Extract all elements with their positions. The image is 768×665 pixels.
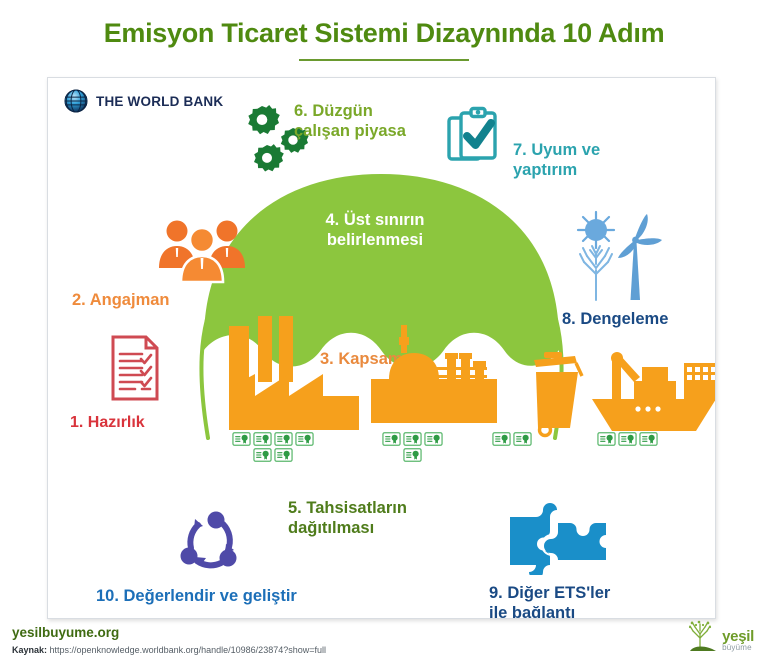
checklist-document-icon (108, 334, 162, 402)
footer-source: Kaynak: https://openknowledge.worldbank.… (12, 645, 326, 655)
allowance-certificate-icon (274, 432, 293, 446)
step-9-label-line2: ile bağlantı (489, 603, 610, 619)
allowance-certificate-icon (274, 448, 293, 462)
tree-logo-icon (688, 620, 718, 652)
cycle-arrows-icon (175, 506, 247, 578)
brand-line2: büyüme (722, 644, 754, 652)
allowance-certificate-icon (403, 448, 422, 462)
world-bank-label: THE WORLD BANK (96, 94, 223, 109)
infographic-card: THE WORLD BANK 4. Üst sınırın belirlenme… (47, 77, 716, 619)
step-6-label-line2: çalışan piyasa (294, 121, 406, 141)
globe-icon (63, 88, 89, 114)
brand-text: yeşil büyüme (722, 629, 754, 652)
allowance-certificate-icon (639, 432, 658, 446)
step-5-label: 5. Tahsisatların dağıtılması (288, 498, 407, 538)
step-5-label-line2: dağıtılması (288, 518, 407, 538)
allowance-certificate-icon (597, 432, 616, 446)
page-title: Emisyon Ticaret Sistemi Dizaynında 10 Ad… (0, 18, 768, 49)
cargoship-icon (590, 341, 716, 436)
yesil-buyume-logo: yeşil büyüme (688, 620, 754, 652)
factory-icon (227, 310, 362, 436)
allowance-certificate-icon (403, 432, 422, 446)
allowance-certificate-icon (295, 432, 314, 446)
allowance-certificate-icon (618, 432, 637, 446)
wastebin-icon (520, 350, 590, 438)
clipboard-check-icon (445, 105, 505, 173)
allowance-certificate-icon (424, 432, 443, 446)
footer-source-label: Kaynak: (12, 645, 47, 655)
step-4-label: 4. Üst sınırın belirlenmesi (260, 210, 490, 250)
step-5-label-line1: 5. Tahsisatların (288, 498, 407, 518)
title-underline (299, 59, 469, 61)
footer-source-url[interactable]: https://openknowledge.worldbank.org/hand… (50, 645, 326, 655)
refinery-icon (369, 323, 499, 435)
allowance-group-factory (232, 432, 324, 462)
step-6-label: 6. Düzgün çalışan piyasa (294, 101, 406, 141)
allowance-certificate-icon (513, 432, 532, 446)
allowance-certificate-icon (492, 432, 511, 446)
allowance-certificate-icon (232, 432, 251, 446)
allowance-group-wastebin (492, 432, 540, 446)
allowance-group-refinery (382, 432, 452, 462)
step-10-label: 10. Değerlendir ve geliştir (96, 586, 297, 606)
allowance-certificate-icon (382, 432, 401, 446)
footer-site[interactable]: yesilbuyume.org (12, 625, 119, 640)
step-7-label: 7. Uyum ve yaptırım (513, 140, 600, 180)
step-4-label-line1: 4. Üst sınırın (260, 210, 490, 230)
renewables-icon (572, 208, 664, 306)
step-7-label-line1: 7. Uyum ve (513, 140, 600, 160)
step-2-label: 2. Angajman (72, 290, 170, 310)
step-7-label-line2: yaptırım (513, 160, 600, 180)
step-4-label-line2: belirlenmesi (260, 230, 490, 250)
step-9-label-line1: 9. Diğer ETS'ler (489, 583, 610, 603)
brand-line1: yeşil (722, 629, 754, 644)
step-6-label-line1: 6. Düzgün (294, 101, 406, 121)
world-bank-logo: THE WORLD BANK (63, 88, 223, 114)
allowance-certificate-icon (253, 432, 272, 446)
allowance-group-cargoship (597, 432, 667, 446)
step-1-label: 1. Hazırlık (70, 413, 145, 433)
allowance-certificate-icon (253, 448, 272, 462)
step-8-label: 8. Dengeleme (562, 309, 668, 329)
puzzle-pieces-icon (502, 503, 610, 575)
three-people-icon (158, 216, 246, 288)
infographic-page: Emisyon Ticaret Sistemi Dizaynında 10 Ad… (0, 0, 768, 665)
step-9-label: 9. Diğer ETS'ler ile bağlantı (489, 583, 610, 619)
